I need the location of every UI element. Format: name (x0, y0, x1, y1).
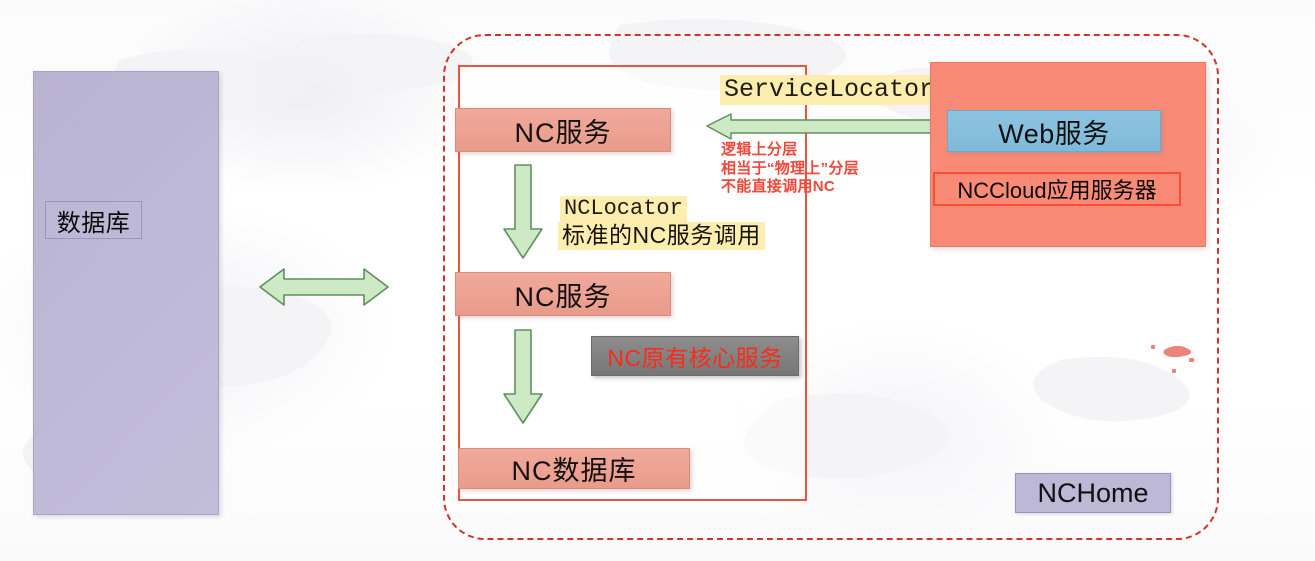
nc-core-service-label: NC原有核心服务 (607, 339, 782, 373)
nc-database-box[interactable]: NC数据库 (458, 448, 690, 489)
red-note-line-2: 相当于“物理上”分层 (721, 160, 859, 179)
red-note-line-1: 逻辑上分层 (721, 141, 859, 160)
database-label: 数据库 (45, 201, 142, 239)
red-annotation-notes: 逻辑上分层 相当于“物理上”分层 不能直接调用NC (721, 141, 859, 197)
nc-service-mid-box[interactable]: NC服务 (455, 272, 671, 316)
database-panel (33, 71, 219, 515)
red-note-line-3: 不能直接调用NC (721, 178, 859, 197)
web-service-box[interactable]: Web服务 (947, 110, 1161, 152)
nc-service-mid-label: NC服务 (515, 275, 612, 314)
web-service-label: Web服务 (998, 112, 1110, 151)
servicelocator-highlight-label: ServiceLocator (720, 75, 938, 105)
diagram-canvas: 数据库 NC服务 NCLocator 标准的NC服务调用 NC服务 NC原有核心… (0, 0, 1315, 561)
database-to-nchome-arrow (258, 263, 390, 311)
nclocator-highlight-label: NCLocator (560, 196, 687, 223)
nc-core-service-box[interactable]: NC原有核心服务 (591, 336, 799, 376)
nc-service-top-box[interactable]: NC服务 (455, 108, 671, 152)
nclocator-description-label: 标准的NC服务调用 (558, 222, 765, 250)
nccloud-app-server-label: NCCloud应用服务器 (933, 172, 1181, 206)
nchome-label: NCHome (1015, 473, 1171, 513)
nc-service-top-label: NC服务 (515, 111, 612, 150)
nccloud-panel (930, 62, 1206, 247)
nc-database-label: NC数据库 (512, 449, 637, 488)
